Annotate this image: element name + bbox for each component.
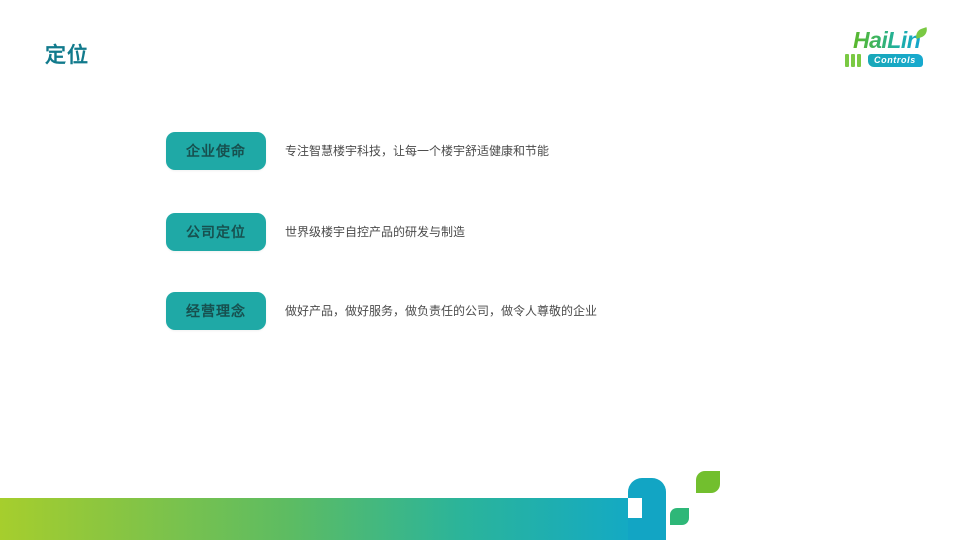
list-item-description: 做好产品，做好服务，做负责任的公司，做令人尊敬的企业 bbox=[285, 302, 597, 320]
list-item-description: 世界级楼宇自控产品的研发与制造 bbox=[285, 223, 465, 241]
hook-notch bbox=[628, 498, 642, 520]
hook-stem bbox=[628, 518, 642, 540]
leaf-small-icon bbox=[670, 508, 689, 525]
list-item: 公司定位 世界级楼宇自控产品的研发与制造 bbox=[166, 213, 465, 251]
slide-canvas: 定位 HaiLin Controls 企业使命 专注智慧楼宇科技，让每一个楼宇舒… bbox=[0, 0, 960, 540]
list-item: 企业使命 专注智慧楼宇科技，让每一个楼宇舒适健康和节能 bbox=[166, 132, 549, 170]
status-badge: 公司定位 bbox=[166, 213, 266, 251]
leaf-large-icon bbox=[696, 471, 720, 493]
status-badge: 经营理念 bbox=[166, 292, 266, 330]
list-item: 经营理念 做好产品，做好服务，做负责任的公司，做令人尊敬的企业 bbox=[166, 292, 597, 330]
footer-decoration bbox=[0, 450, 960, 540]
gradient-bar bbox=[0, 498, 640, 540]
status-badge: 企业使命 bbox=[166, 132, 266, 170]
list-item-description: 专注智慧楼宇科技，让每一个楼宇舒适健康和节能 bbox=[285, 142, 549, 160]
